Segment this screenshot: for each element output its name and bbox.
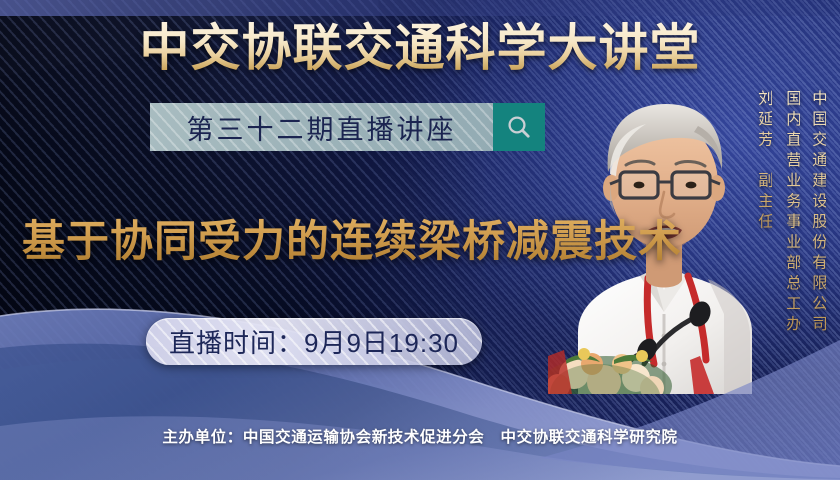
speaker-department: 国内直营业务事业部总工办 [778,90,800,336]
search-icon [506,114,532,140]
live-time-label: 直播时间：9月9日19:30 [169,323,459,360]
page-title: 中交协联交通科学大讲堂 [0,19,840,78]
speaker-name-title: 刘延芳 副主任 [750,90,772,234]
speaker-company: 中国交通建设股份有限公司 [804,90,826,336]
organizers-footer: 主办单位：中国交通运输协会新技术促进分会 中交协联交通科学研究院 [0,425,840,447]
live-time-badge: 直播时间：9月9日19:30 [146,318,482,365]
promo-poster: 中交协联交通科学大讲堂 第三十二期直播讲座 基于协同受力的连续梁桥减震技术 直播… [0,0,840,480]
search-button[interactable] [493,103,545,151]
subtitle-bar: 第三十二期直播讲座 [150,103,545,151]
speaker-credit-block: 刘延芳 副主任 国内直营业务事业部总工办 中国交通建设股份有限公司 [750,90,826,336]
lecture-headline: 基于协同受力的连续梁桥减震技术 [22,207,682,269]
background-top-band [0,0,840,16]
subtitle-label: 第三十二期直播讲座 [187,108,457,147]
subtitle-text-box: 第三十二期直播讲座 [150,103,493,151]
